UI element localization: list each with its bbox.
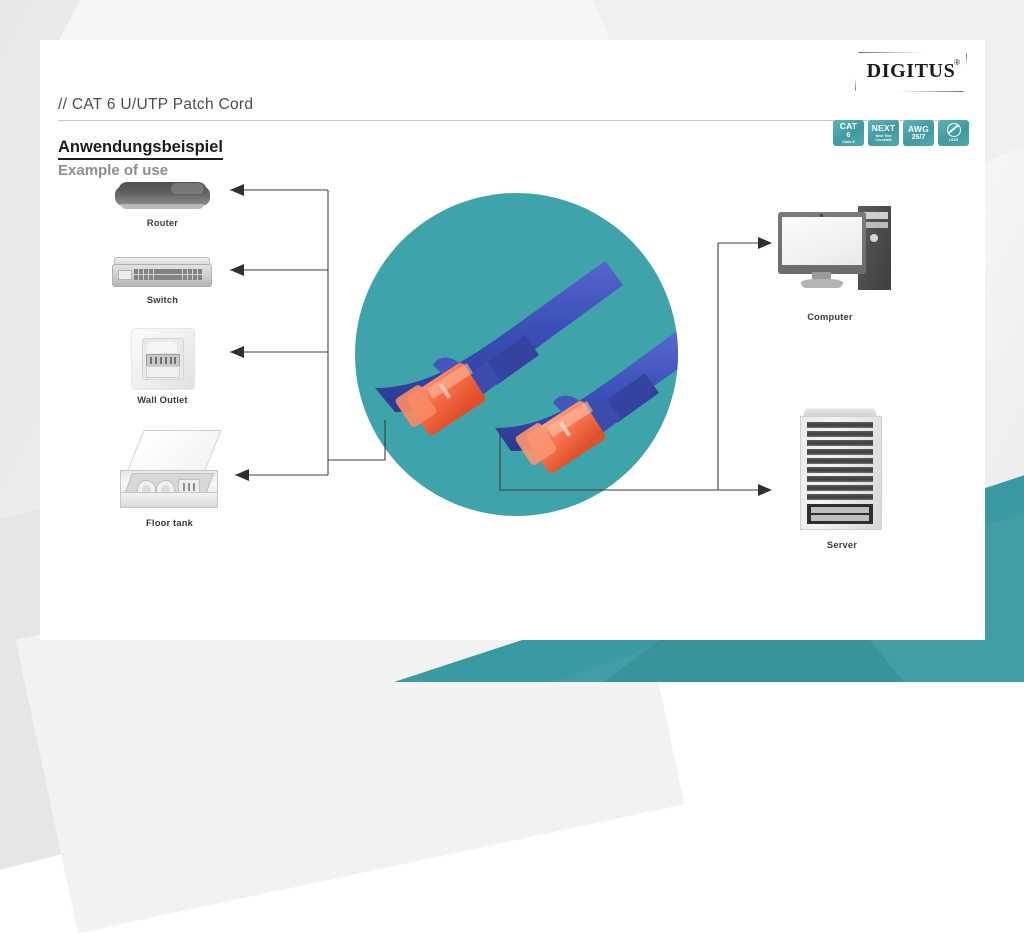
page-title-en: Example of use bbox=[58, 162, 168, 179]
router-highlight bbox=[171, 183, 204, 194]
lszh-badge-line3: LSZH bbox=[949, 138, 958, 142]
cat6-badge: CAT 6 Class E bbox=[833, 120, 864, 146]
router-label: Router bbox=[110, 218, 215, 228]
computer-power-button bbox=[870, 234, 878, 242]
wall-outlet-lower bbox=[146, 366, 180, 378]
cat6-badge-line3: Class E bbox=[842, 140, 855, 144]
computer-webcam bbox=[820, 214, 823, 217]
next-badge-line3: Near End Crosstalk bbox=[868, 134, 899, 142]
router-base bbox=[121, 204, 204, 209]
wall-outlet-label: Wall Outlet bbox=[110, 395, 215, 405]
server-label: Server bbox=[782, 540, 902, 550]
switch-ports bbox=[134, 269, 202, 280]
registered-trademark-icon: ® bbox=[954, 58, 960, 67]
lszh-badge: LSZH bbox=[938, 120, 969, 146]
computer-label: Computer bbox=[770, 312, 890, 322]
content-card: DIGITUS ® // CAT 6 U/UTP Patch Cord Anwe… bbox=[40, 40, 985, 640]
floor-tank-front bbox=[120, 492, 218, 508]
awg-badge-line1: AWG bbox=[908, 125, 929, 134]
cat6-badge-line1: CAT bbox=[840, 122, 857, 131]
switch-icon bbox=[112, 260, 212, 290]
digitus-logo: DIGITUS ® bbox=[855, 52, 967, 92]
wall-outlet-slot bbox=[147, 342, 177, 353]
floor-tank-icon bbox=[120, 430, 220, 510]
patch-cord-photo bbox=[355, 193, 678, 516]
server-bays bbox=[807, 422, 873, 500]
logo-text: DIGITUS bbox=[855, 60, 967, 83]
certification-badges: CAT 6 Class E NEXT Near End Crosstalk AW… bbox=[833, 120, 969, 146]
router-icon bbox=[115, 180, 210, 212]
next-badge-line1: NEXT bbox=[872, 124, 895, 133]
header-divider bbox=[58, 120, 963, 121]
computer-icon bbox=[778, 212, 893, 296]
computer-stand-foot bbox=[801, 279, 843, 288]
switch-label: Switch bbox=[110, 295, 215, 305]
next-badge: NEXT Near End Crosstalk bbox=[868, 120, 899, 146]
floor-tank-label: Floor tank bbox=[112, 518, 227, 528]
no-flame-icon bbox=[947, 123, 961, 137]
switch-status-leds bbox=[118, 270, 132, 280]
page-title-de: Anwendungsbeispiel bbox=[58, 138, 223, 160]
product-title: // CAT 6 U/UTP Patch Cord bbox=[58, 96, 253, 114]
awg-badge: AWG 26/7 bbox=[903, 120, 934, 146]
awg-badge-line2: 26/7 bbox=[912, 134, 926, 141]
server-drive-unit bbox=[807, 504, 873, 524]
cat6-badge-line2: 6 bbox=[847, 132, 851, 139]
server-icon bbox=[800, 408, 880, 530]
wall-outlet-icon bbox=[131, 328, 193, 388]
computer-screen bbox=[782, 217, 862, 265]
